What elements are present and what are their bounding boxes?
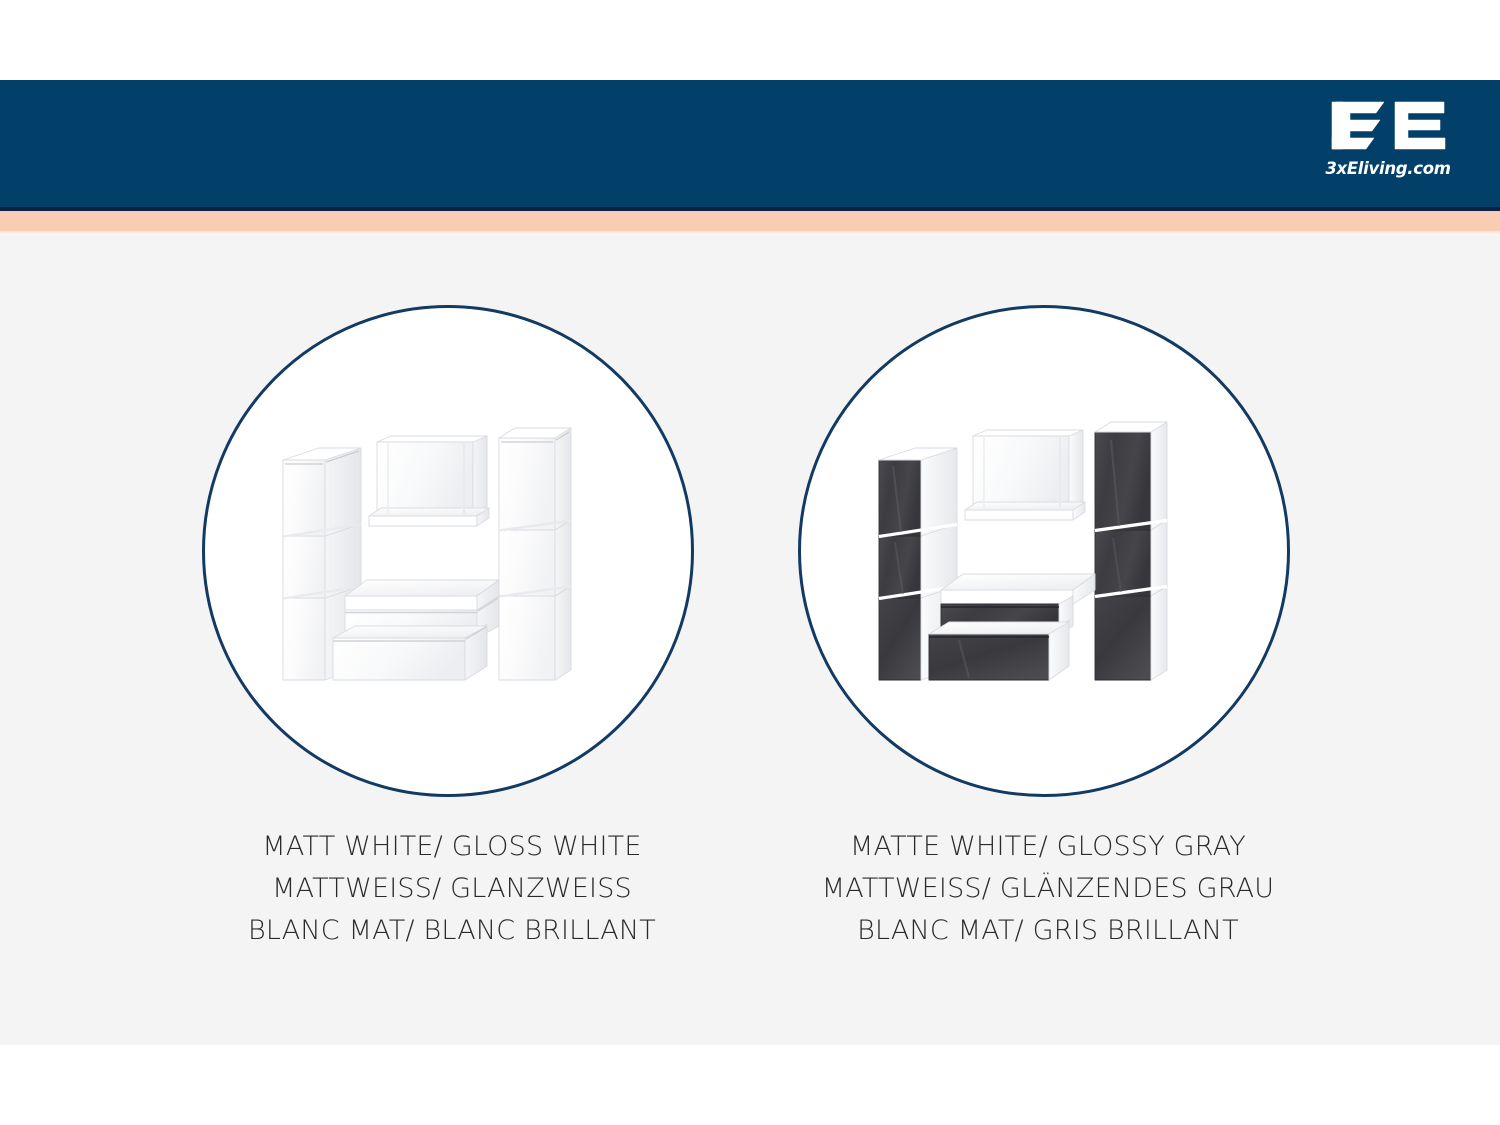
- caption-line-en: MATT WHITE/ GLOSS WHITE: [152, 826, 752, 868]
- finish-card-white[interactable]: MATT WHITE/ GLOSS WHITE MATTWEISS/ GLANZ…: [152, 236, 752, 996]
- finish-caption-white: MATT WHITE/ GLOSS WHITE MATTWEISS/ GLANZ…: [152, 826, 752, 952]
- finish-card-gray[interactable]: MATTE WHITE/ GLOSSY GRAY MATTWEISS/ GLÄN…: [748, 236, 1348, 996]
- product-finish-comparison-page: 3xEliving.com: [0, 0, 1500, 1125]
- wall-unit-gray-illustration: [801, 308, 1290, 797]
- header-bar: [0, 80, 1500, 207]
- caption-line-fr: BLANC MAT/ BLANC BRILLANT: [152, 910, 752, 952]
- finish-card-list: MATT WHITE/ GLOSS WHITE MATTWEISS/ GLANZ…: [0, 236, 1500, 1045]
- brand-logo[interactable]: 3xEliving.com: [1324, 96, 1452, 192]
- accent-strip: [0, 211, 1500, 231]
- finish-image-circle-white: [202, 305, 694, 797]
- caption-line-en: MATTE WHITE/ GLOSSY GRAY: [748, 826, 1348, 868]
- finish-image-circle-gray: [798, 305, 1290, 797]
- content-panel: MATT WHITE/ GLOSS WHITE MATTWEISS/ GLANZ…: [0, 236, 1500, 1045]
- logo-wordmark: 3xEliving.com: [1325, 161, 1450, 178]
- wall-unit-white-illustration: [205, 308, 694, 797]
- finish-caption-gray: MATTE WHITE/ GLOSSY GRAY MATTWEISS/ GLÄN…: [748, 826, 1348, 952]
- caption-line-fr: BLANC MAT/ GRIS BRILLANT: [748, 910, 1348, 952]
- caption-line-de: MATTWEISS/ GLANZWEISS: [152, 868, 752, 910]
- caption-line-de: MATTWEISS/ GLÄNZENDES GRAU: [748, 868, 1348, 910]
- logo-3e-icon: [1328, 96, 1448, 160]
